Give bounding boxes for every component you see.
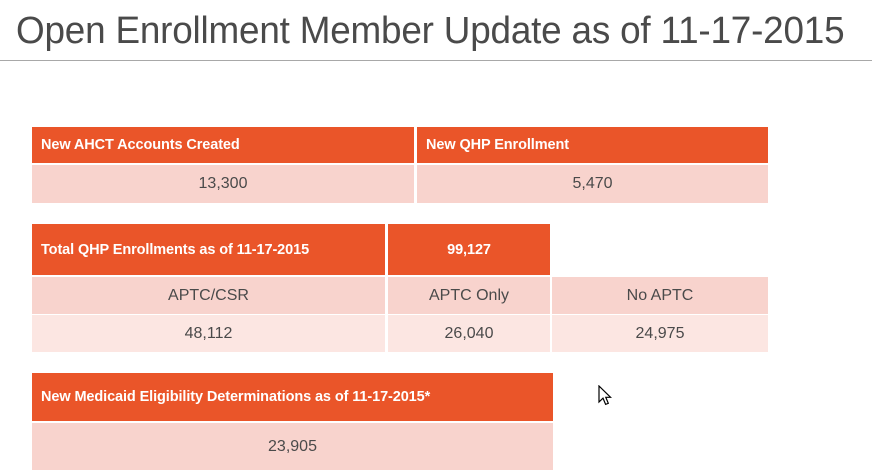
title-bar: Open Enrollment Member Update as of 11-1… bbox=[0, 0, 872, 61]
page-title: Open Enrollment Member Update as of 11-1… bbox=[16, 8, 844, 54]
table-total-qhp-enrollments: Total QHP Enrollments as of 11-17-2015 9… bbox=[32, 224, 768, 352]
table-header-total-qhp-enrollments-value: 99,127 bbox=[388, 224, 550, 275]
table-value-new-ahct-accounts-created: 13,300 bbox=[32, 165, 414, 203]
table-new-medicaid-determinations: New Medicaid Eligibility Determinations … bbox=[32, 373, 553, 470]
table-value-aptc-csr: 48,112 bbox=[32, 315, 385, 352]
table-value-aptc-only: 26,040 bbox=[388, 315, 550, 352]
table-sublabel-aptc-csr: APTC/CSR bbox=[32, 277, 385, 314]
mouse-arrow-cursor bbox=[598, 385, 612, 406]
table-sublabel-no-aptc: No APTC bbox=[552, 277, 768, 314]
table-header-new-qhp-enrollment: New QHP Enrollment bbox=[417, 127, 768, 163]
table-value-new-qhp-enrollment: 5,470 bbox=[417, 165, 768, 203]
table-header-new-ahct-accounts-created: New AHCT Accounts Created bbox=[32, 127, 414, 163]
table-header-new-medicaid-eligibility-determinations: New Medicaid Eligibility Determinations … bbox=[32, 373, 553, 421]
table-header-total-qhp-enrollments: Total QHP Enrollments as of 11-17-2015 bbox=[32, 224, 385, 275]
table-sublabel-aptc-only: APTC Only bbox=[388, 277, 550, 314]
table-value-new-medicaid-eligibility-determinations: 23,905 bbox=[32, 423, 553, 470]
table-value-no-aptc: 24,975 bbox=[552, 315, 768, 352]
title-divider-rule bbox=[0, 60, 872, 61]
table-new-accounts: New AHCT Accounts Created New QHP Enroll… bbox=[32, 127, 768, 203]
